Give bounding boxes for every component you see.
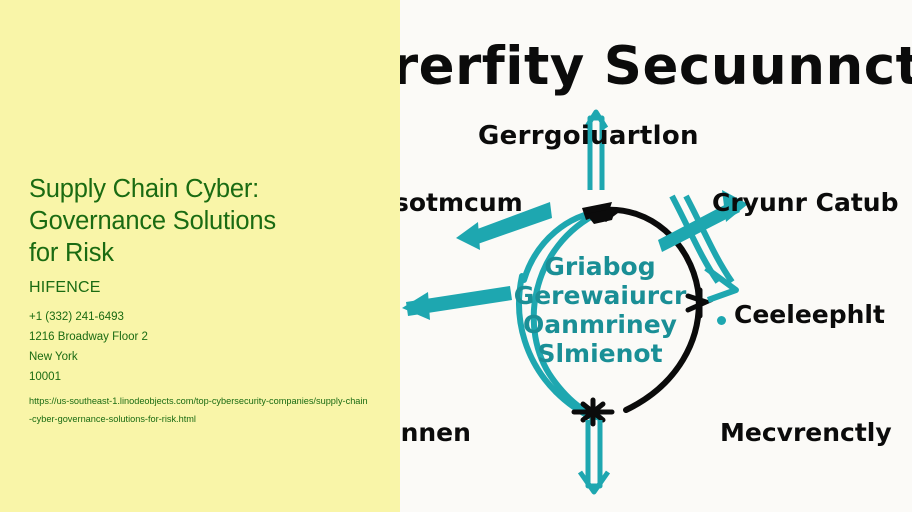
company-name: HIFENCE: [29, 278, 374, 297]
diagram-heading: rerfity Secuunnct: [400, 36, 912, 97]
info-panel: Supply Chain Cyber: Governance Solutions…: [0, 0, 400, 512]
diagram-label-left-top: sotmcum: [400, 188, 523, 217]
link-preview-card: Supply Chain Cyber: Governance Solutions…: [0, 0, 912, 512]
phone-number[interactable]: +1 (332) 241-6493: [29, 307, 374, 327]
source-url[interactable]: https://us-southeast-1.linodeobjects.com…: [29, 393, 369, 429]
arrow-down-icon: [580, 420, 608, 492]
diagram-center-text: Griabog Gerewaiurcr Oanmriney Slmienot: [500, 252, 700, 368]
center-text-line-1: Griabog: [500, 252, 700, 281]
diagram-label-left-bottom: innen: [400, 418, 471, 447]
arrow-left-icon: [402, 286, 512, 320]
diagram-subheading: Gerrgoiuartlon: [478, 121, 699, 151]
diagram-label-right-top: Cryunr Catub: [712, 188, 898, 217]
address-street: 1216 Broadway Floor 2: [29, 327, 374, 347]
address-city: New York: [29, 347, 374, 367]
address-zip: 10001: [29, 367, 374, 387]
diagram-label-right-bottom: Mecvrenctly: [720, 418, 892, 447]
info-content: Supply Chain Cyber: Governance Solutions…: [29, 173, 374, 429]
center-text-line-3: Oanmriney: [500, 310, 700, 339]
center-text-line-2: Gerewaiurcr: [500, 281, 700, 310]
diagram-label-right-mid: Ceeleephlt: [734, 300, 885, 329]
page-title: Supply Chain Cyber: Governance Solutions…: [29, 173, 374, 269]
diagram-panel: rerfity Secuunnct Gerrgoiuartlon sotmcum…: [400, 0, 912, 512]
center-text-line-4: Slmienot: [500, 339, 700, 368]
bullet-dot-icon: [717, 316, 726, 325]
